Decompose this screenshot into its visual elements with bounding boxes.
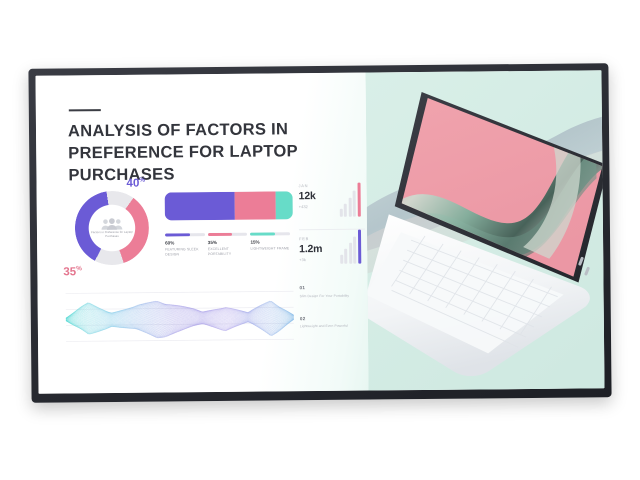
legend-item: 35%EXCELLENT PORTABILITY <box>208 233 251 258</box>
kpi-card: FEB1.2m+3k <box>299 229 365 277</box>
list-item: 02Lightweight and Even Powerful <box>300 315 372 329</box>
donut-label-secondary: 35% <box>63 265 82 278</box>
wave-chart-svg <box>65 281 294 359</box>
numbered-list: 01Slim Design For Your Portability02Ligh… <box>300 285 373 347</box>
legend-swatch <box>208 233 233 236</box>
monitor-screen-area: ANALYSIS OF FACTORS IN PREFERENCE FOR LA… <box>35 70 604 393</box>
stacked-bar <box>165 191 293 220</box>
sparkline-bar <box>344 204 347 217</box>
sparkline-bar <box>358 183 361 217</box>
donut-label-primary-value: 40 <box>126 178 139 190</box>
legend-percent: 60% <box>165 240 205 245</box>
wave-lines <box>66 300 294 339</box>
kpi-month: JAN <box>299 183 365 189</box>
legend-track <box>165 233 205 236</box>
stacked-bar-segment <box>234 191 275 219</box>
list-item-text: Slim Design For Your Portability <box>300 293 372 299</box>
list-item: 01Slim Design For Your Portability <box>300 285 372 299</box>
donut-label-primary-sign: % <box>139 177 145 184</box>
sparkline-bar <box>340 255 343 264</box>
sparkline-bar <box>348 198 351 217</box>
screenshot-stage: ANALYSIS OF FACTORS IN PREFERENCE FOR LA… <box>0 0 640 480</box>
legend-swatch <box>250 232 275 235</box>
laptop-photo <box>365 70 604 390</box>
legend-track <box>208 233 248 236</box>
kpi-sparkline <box>339 195 361 217</box>
sparkline-bar <box>353 237 356 264</box>
donut-center: Factors in Preference for Laptop Purchas… <box>75 191 150 266</box>
legend-track <box>250 232 290 235</box>
stacked-bar-chart: 60%FEATURING SLEEK DESIGN35%EXCELLENT PO… <box>165 191 294 258</box>
legend-percent: 35% <box>208 239 248 244</box>
sparkline-bar <box>358 230 361 264</box>
kpi-list: JAN12k+432FEB1.2m+3k <box>298 177 365 277</box>
people-icon <box>101 217 123 229</box>
list-item-number: 02 <box>300 315 372 321</box>
sparkline-bar <box>344 249 347 264</box>
donut-chart: Factors in Preference for Laptop Purchas… <box>65 182 166 283</box>
stacked-bar-segment <box>165 192 235 221</box>
monitor-display: ANALYSIS OF FACTORS IN PREFERENCE FOR LA… <box>28 63 611 403</box>
legend-label: FEATURING SLEEK DESIGN <box>165 247 205 258</box>
donut-label-secondary-sign: % <box>76 265 82 272</box>
wave-chart <box>65 281 294 359</box>
donut-caption: Factors in Preference for Laptop Purchas… <box>89 230 135 238</box>
legend-item: 15%LIGHTWEIGHT FRAME <box>250 232 293 257</box>
legend-swatch <box>165 233 190 236</box>
title-rule <box>69 109 101 111</box>
kpi-sparkline <box>340 242 362 264</box>
legend-item: 60%FEATURING SLEEK DESIGN <box>165 233 208 258</box>
list-item-number: 01 <box>300 285 372 291</box>
donut-label-secondary-value: 35 <box>63 266 76 278</box>
stacked-bar-segment <box>275 191 293 219</box>
legend-label: LIGHTWEIGHT FRAME <box>250 246 290 251</box>
sparkline-bar <box>339 209 342 217</box>
kpi-card: JAN12k+432 <box>299 183 365 230</box>
sparkline-bar <box>349 243 352 264</box>
slide-canvas: ANALYSIS OF FACTORS IN PREFERENCE FOR LA… <box>35 70 604 393</box>
donut-label-primary: 40% <box>126 177 145 190</box>
legend-label: EXCELLENT PORTABILITY <box>208 247 248 258</box>
title-line-1: ANALYSIS OF FACTORS IN <box>68 120 288 140</box>
list-item-text: Lightweight and Even Powerful <box>300 324 372 330</box>
laptop-illustration <box>365 70 604 390</box>
stacked-bar-legend: 60%FEATURING SLEEK DESIGN35%EXCELLENT PO… <box>165 232 293 258</box>
sparkline-bar <box>353 191 356 217</box>
legend-percent: 15% <box>250 239 290 244</box>
